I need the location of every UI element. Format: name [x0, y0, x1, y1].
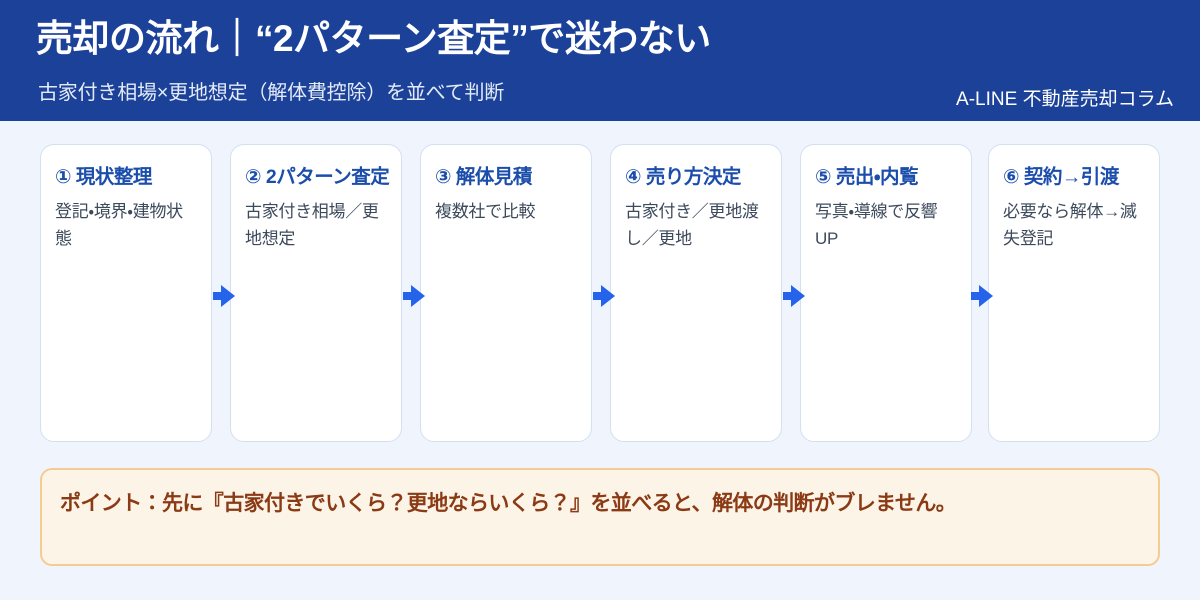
- arrow-head: [601, 285, 615, 307]
- step-desc: 写真・導線で反響UP: [815, 199, 957, 252]
- arrow-right-icon: [783, 285, 805, 307]
- step-desc: 古家付き／更地渡し／更地: [625, 199, 767, 252]
- arrow-head: [411, 285, 425, 307]
- page-subtitle: 古家付き相場×更地想定（解体費控除）を並べて判断: [38, 76, 504, 105]
- step-desc: 登記・境界・建物状態: [55, 199, 197, 252]
- arrow-right-icon: [971, 285, 993, 307]
- step-card-1[interactable]: ① 現状整理 登記・境界・建物状態: [40, 144, 212, 442]
- page-title: 売却の流れ｜“2パターン査定”で迷わない: [36, 18, 711, 61]
- step-title: ③ 解体見積: [435, 165, 577, 189]
- arrow-head: [221, 285, 235, 307]
- arrow-head: [791, 285, 805, 307]
- infographic-canvas: 売却の流れ｜“2パターン査定”で迷わない 古家付き相場×更地想定（解体費控除）を…: [0, 0, 1200, 600]
- step-desc: 古家付き相場／更地想定: [245, 199, 387, 252]
- step-card-5[interactable]: ⑤ 売出・内覧 写真・導線で反響UP: [800, 144, 972, 442]
- arrow-head: [979, 285, 993, 307]
- step-title: ④ 売り方決定: [625, 165, 767, 189]
- arrow-right-icon: [213, 285, 235, 307]
- step-title: ① 現状整理: [55, 165, 197, 189]
- step-card-2[interactable]: ② 2パターン査定 古家付き相場／更地想定: [230, 144, 402, 442]
- step-card-3[interactable]: ③ 解体見積 複数社で比較: [420, 144, 592, 442]
- arrow-right-icon: [403, 285, 425, 307]
- arrow-right-icon: [593, 285, 615, 307]
- step-title: ⑤ 売出・内覧: [815, 165, 957, 189]
- step-title: ⑥ 契約→引渡: [1003, 165, 1145, 189]
- step-title: ② 2パターン査定: [245, 165, 387, 189]
- steps-row: ① 現状整理 登記・境界・建物状態 ② 2パターン査定 古家付き相場／更地想定 …: [40, 144, 1160, 444]
- step-desc: 必要なら解体→滅失登記: [1003, 199, 1145, 252]
- brand-label: A-LINE 不動産売却コラム: [956, 84, 1174, 111]
- header-accent-bar: [0, 0, 12, 121]
- step-card-6[interactable]: ⑥ 契約→引渡 必要なら解体→滅失登記: [988, 144, 1160, 442]
- step-desc: 複数社で比較: [435, 199, 577, 225]
- point-callout-text: ポイント：先に『古家付きでいくら？更地ならいくら？』を並べると、解体の判断がブレ…: [60, 490, 956, 517]
- point-callout: ポイント：先に『古家付きでいくら？更地ならいくら？』を並べると、解体の判断がブレ…: [40, 468, 1160, 566]
- header-banner: 売却の流れ｜“2パターン査定”で迷わない 古家付き相場×更地想定（解体費控除）を…: [0, 0, 1200, 121]
- step-card-4[interactable]: ④ 売り方決定 古家付き／更地渡し／更地: [610, 144, 782, 442]
